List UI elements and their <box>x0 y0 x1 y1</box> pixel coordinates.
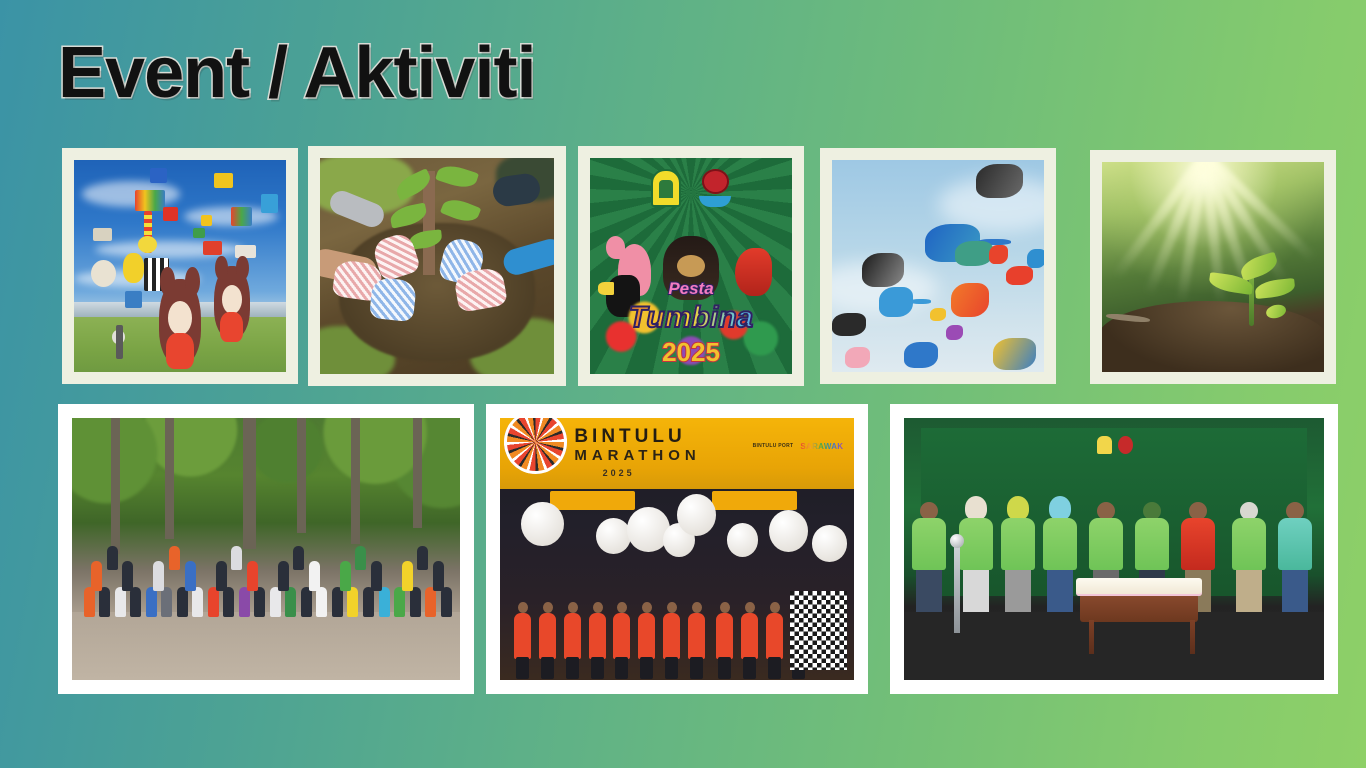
gallery-item-kite-festival[interactable] <box>62 148 298 384</box>
photo-frame <box>62 148 298 384</box>
photo-cake-cutting-ceremony <box>904 418 1324 680</box>
poster-title-line1: Pesta <box>590 279 792 299</box>
sponsor-logos: BINTULU PORT SARAWAK <box>753 442 844 451</box>
photo-community-run-group <box>72 418 460 680</box>
gallery-item-community-run[interactable] <box>58 404 474 694</box>
page-title: Event / Aktiviti <box>58 36 535 112</box>
council-logo-icon <box>699 169 731 209</box>
photo-frame <box>820 148 1056 384</box>
checkered-flag <box>790 591 847 670</box>
photo-tree-planting-hands <box>320 158 554 374</box>
state-crest-icon <box>651 169 681 207</box>
photo-frame <box>1090 150 1336 384</box>
photo-seedling-sunlight <box>1102 162 1324 372</box>
photo-frame: Pesta Tumbina 2025 <box>578 146 804 386</box>
marathon-year: 2025 <box>603 468 635 478</box>
poster-year: 2025 <box>590 337 792 368</box>
gallery-item-seedling[interactable] <box>1090 150 1336 384</box>
photo-frame <box>890 404 1338 694</box>
photo-pesta-tumbina-poster: Pesta Tumbina 2025 <box>590 158 792 374</box>
stanchion-post <box>954 544 960 633</box>
photo-frame: BINTULU MARATHON 2025 BINTULU PORT SARAW… <box>486 404 868 694</box>
sponsor-bintulu-port: BINTULU PORT <box>753 443 794 449</box>
gallery-item-cake-cutting[interactable] <box>890 404 1338 694</box>
marathon-title-line1: BINTULU <box>574 426 685 448</box>
photo-frame <box>58 404 474 694</box>
photo-frame <box>308 146 566 386</box>
poster-title-line2: Tumbina <box>590 301 792 335</box>
photo-bintulu-marathon-start: BINTULU MARATHON 2025 BINTULU PORT SARAW… <box>500 418 854 680</box>
gallery-item-tree-planting[interactable] <box>308 146 566 386</box>
photo-kite-festival-chipmunks <box>74 160 286 372</box>
gallery-item-animal-kites[interactable] <box>820 148 1056 384</box>
marathon-title-line2: MARATHON <box>574 447 700 464</box>
ceremonial-cake <box>1076 578 1202 596</box>
gallery-item-bintulu-marathon[interactable]: BINTULU MARATHON 2025 BINTULU PORT SARAW… <box>486 404 868 694</box>
backdrop-logos <box>1097 436 1133 454</box>
photo-animal-kites-sky <box>832 160 1044 372</box>
poster-logos <box>590 169 792 209</box>
gallery-item-pesta-tumbina-poster[interactable]: Pesta Tumbina 2025 <box>578 146 804 386</box>
sponsor-sarawak: SARAWAK <box>800 442 843 451</box>
